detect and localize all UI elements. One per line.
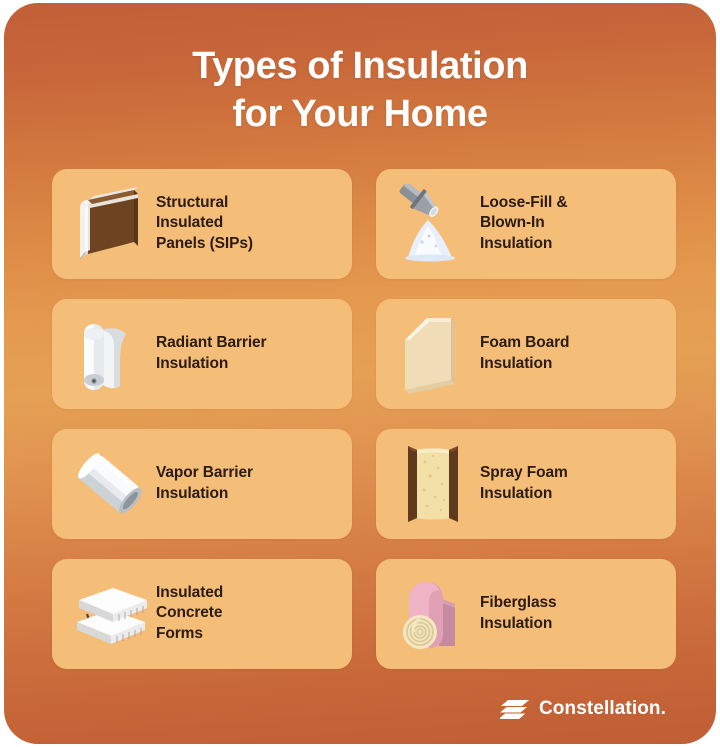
card-structural-insulated-panels[interactable]: Structural Insulated Panels (SIPs) [52,169,352,279]
foam-board-panel-icon [390,308,476,400]
title-line-2: for Your Home [52,91,668,139]
structural-insulated-panel-icon [66,178,152,270]
card-label: Radiant Barrier Insulation [152,333,266,374]
card-label: Loose-Fill & Blown-In Insulation [476,193,568,255]
card-vapor-barrier[interactable]: Vapor Barrier Insulation [52,429,352,539]
card-label: Foam Board Insulation [476,333,569,374]
brand-name: Constellation. [539,698,666,720]
card-label: Spray Foam Insulation [476,463,568,504]
card-label: Vapor Barrier Insulation [152,463,253,504]
page-title: Types of Insulation for Your Home [52,43,668,139]
footer-brand: Constellation. [500,698,666,720]
card-insulated-concrete-forms[interactable]: Insulated Concrete Forms [52,559,352,669]
card-label: Fiberglass Insulation [476,593,557,634]
vapor-barrier-roll-icon [66,438,152,530]
insulation-type-grid: Structural Insulated Panels (SIPs) [52,169,668,669]
radiant-foil-roll-icon [66,308,152,400]
spray-foam-between-studs-icon [390,438,476,530]
card-fiberglass[interactable]: Fiberglass Insulation [376,559,676,669]
card-label: Insulated Concrete Forms [152,583,223,645]
card-radiant-barrier[interactable]: Radiant Barrier Insulation [52,299,352,409]
blower-nozzle-loose-fill-icon [390,178,476,270]
card-spray-foam[interactable]: Spray Foam Insulation [376,429,676,539]
title-line-1: Types of Insulation [52,43,668,91]
infographic-poster: Types of Insulation for Your Home [0,0,720,747]
card-loose-fill-blown-in[interactable]: Loose-Fill & Blown-In Insulation [376,169,676,279]
fiberglass-batt-roll-icon [390,568,476,660]
card-foam-board[interactable]: Foam Board Insulation [376,299,676,409]
card-label: Structural Insulated Panels (SIPs) [152,193,253,255]
insulated-concrete-form-icon [66,568,152,660]
constellation-logo-mark [500,698,530,720]
poster-panel: Types of Insulation for Your Home [4,3,716,744]
